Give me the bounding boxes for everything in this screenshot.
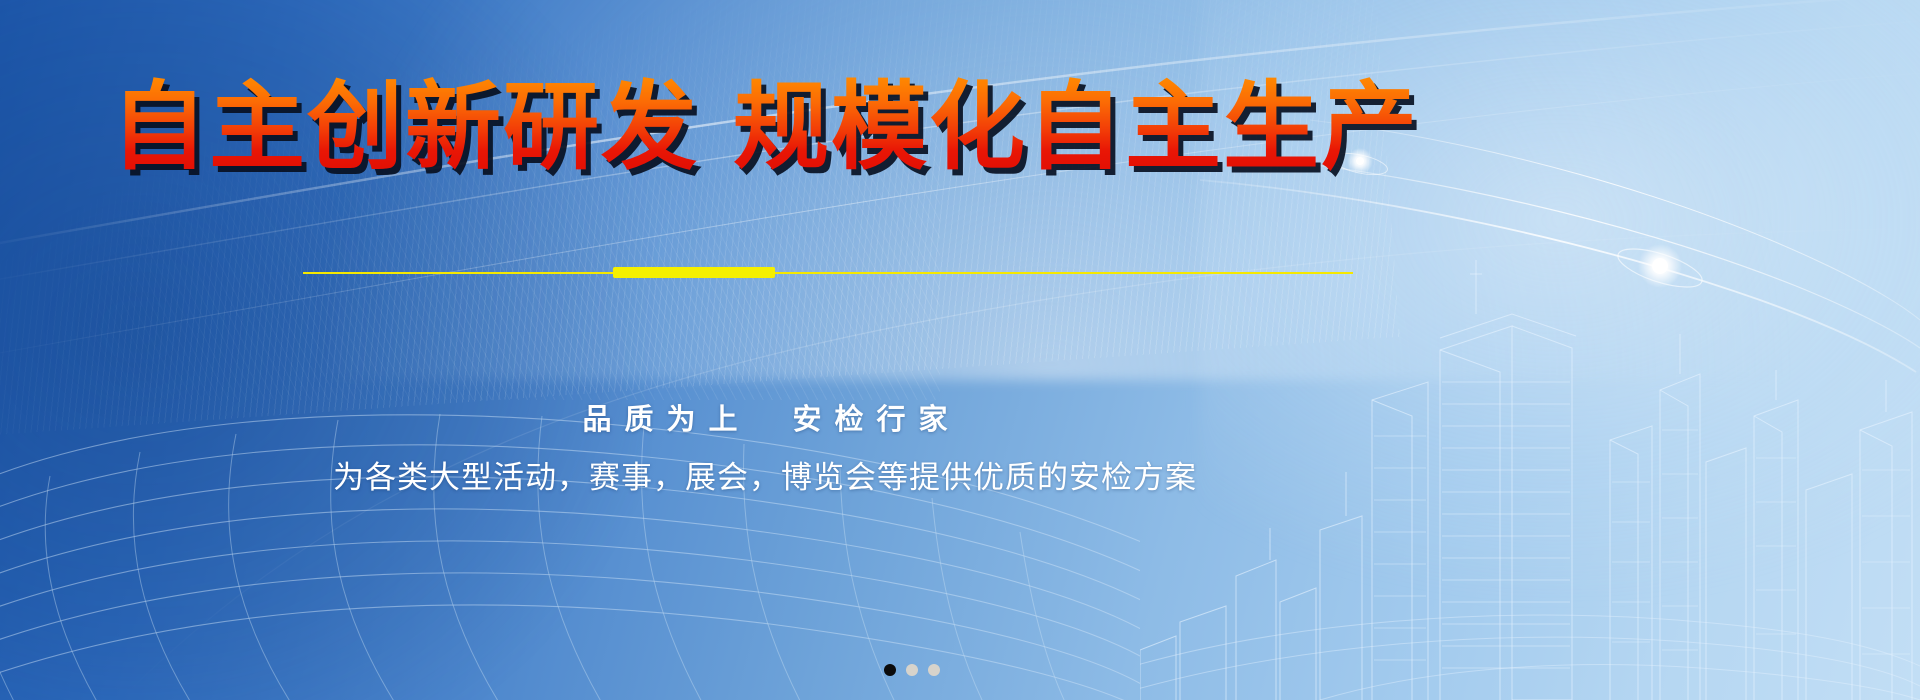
- carousel-indicators[interactable]: [884, 664, 940, 676]
- headline-part-1: 自主创新研发: [111, 74, 699, 181]
- banner-subtitle-secondary: 为各类大型活动，赛事，展会，博览会等提供优质的安检方案: [0, 452, 1530, 497]
- carousel-dot-3[interactable]: [928, 664, 940, 676]
- headline-part-2: 规模化自主生产: [733, 74, 1419, 181]
- yellow-divider-line-icon: [303, 272, 1353, 274]
- hero-banner: 自主创新研发规模化自主生产 品质为上 安检行家 为各类大型活动，赛事，展会，博览…: [0, 0, 1920, 700]
- banner-subtitle-primary: 品质为上 安检行家: [0, 396, 1530, 438]
- yellow-divider-accent-icon: [613, 267, 775, 278]
- carousel-dot-2[interactable]: [906, 664, 918, 676]
- banner-headline: 自主创新研发规模化自主生产: [0, 76, 1530, 180]
- banner-content: 自主创新研发规模化自主生产 品质为上 安检行家 为各类大型活动，赛事，展会，博览…: [0, 0, 1920, 700]
- carousel-dot-1[interactable]: [884, 664, 896, 676]
